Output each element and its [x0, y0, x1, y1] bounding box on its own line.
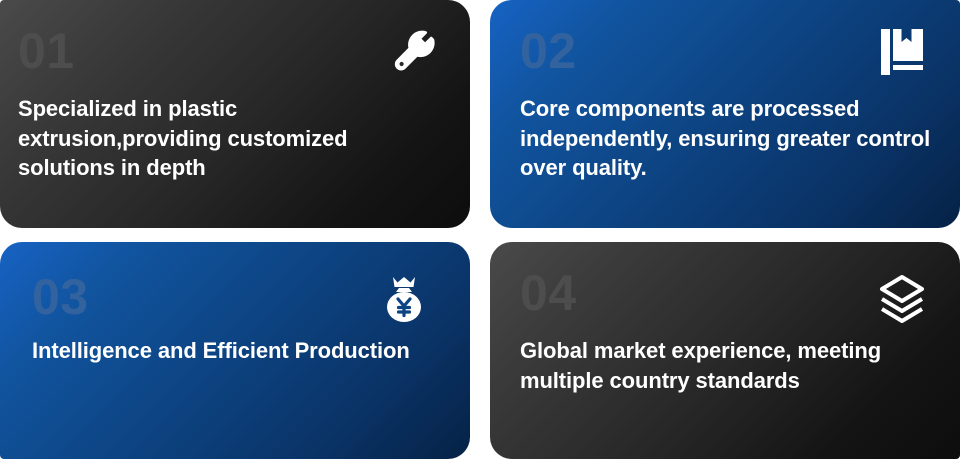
feature-card-02[interactable]: 02 Core components are processed indepen… — [490, 0, 960, 228]
card-text-04: Global market experience, meeting multip… — [520, 336, 890, 395]
feature-card-03[interactable]: 03 Intelligence and Efficient Production — [0, 242, 470, 459]
card-number-04: 04 — [520, 268, 932, 318]
card-content-02: 02 Core components are processed indepen… — [490, 0, 960, 228]
feature-card-grid: 01 Specialized in plastic extrusion,prov… — [0, 0, 960, 459]
card-content-03: 03 Intelligence and Efficient Production — [0, 242, 470, 459]
card-number-02: 02 — [520, 26, 932, 76]
feature-card-01[interactable]: 01 Specialized in plastic extrusion,prov… — [0, 0, 470, 228]
card-text-01: Specialized in plastic extrusion,providi… — [18, 94, 438, 183]
card-text-03: Intelligence and Efficient Production — [32, 336, 442, 366]
feature-card-04[interactable]: 04 Global market experience, meeting mul… — [490, 242, 960, 459]
card-content-04: 04 Global market experience, meeting mul… — [490, 242, 960, 459]
card-number-01: 01 — [18, 26, 442, 76]
card-number-03: 03 — [32, 272, 442, 322]
card-text-02: Core components are processed independen… — [520, 94, 932, 183]
card-content-01: 01 Specialized in plastic extrusion,prov… — [0, 0, 470, 228]
